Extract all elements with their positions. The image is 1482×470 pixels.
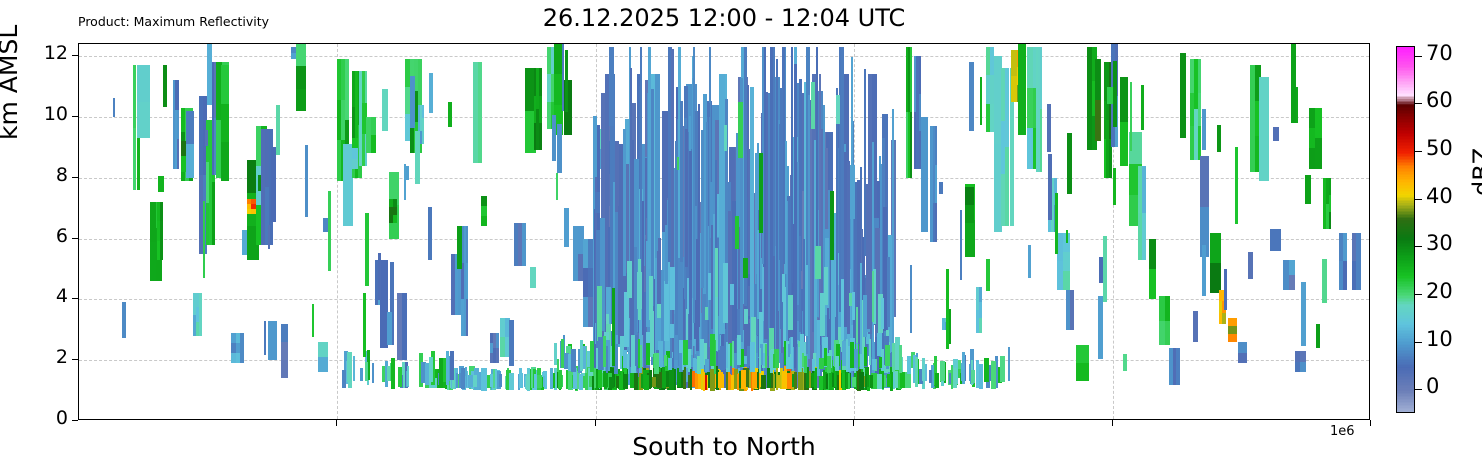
y-axis-tick-label: 6 (20, 225, 68, 247)
reflectivity-cell (604, 377, 607, 390)
reflectivity-cell (363, 293, 366, 358)
reflectivity-cell (296, 66, 306, 88)
reflectivity-cell (466, 263, 468, 299)
y-axis-tick-label: 12 (20, 42, 68, 64)
reflectivity-cell (922, 358, 925, 380)
y-axis-tick (72, 116, 78, 117)
reflectivity-cell (1095, 100, 1101, 141)
reflectivity-cell (1224, 269, 1228, 310)
x-axis-label: South to North (78, 432, 1370, 461)
reflectivity-cell (422, 105, 424, 118)
reflectivity-cell (598, 369, 602, 388)
reflectivity-cell (1113, 61, 1117, 127)
reflectivity-cell (422, 118, 424, 131)
reflectivity-cell (744, 309, 748, 323)
reflectivity-cell (1063, 252, 1069, 271)
reflectivity-cell (986, 259, 991, 291)
reflectivity-cell (318, 342, 328, 357)
reflectivity-cell (748, 149, 750, 274)
reflectivity-cell (1048, 154, 1052, 219)
reflectivity-cell (872, 359, 876, 370)
reflectivity-cell (352, 159, 358, 169)
reflectivity-cell (137, 65, 149, 101)
reflectivity-cell (841, 279, 845, 340)
reflectivity-cell (971, 370, 975, 382)
y-axis-tick (72, 238, 78, 239)
reflectivity-cell (705, 359, 710, 372)
reflectivity-cell (296, 44, 306, 66)
reflectivity-cell (743, 258, 748, 278)
reflectivity-cell (710, 334, 715, 365)
reflectivity-cell (466, 226, 468, 262)
reflectivity-cell (835, 356, 839, 370)
reflectivity-cell (637, 272, 642, 309)
reflectivity-cell (347, 352, 352, 381)
reflectivity-cell (425, 363, 429, 386)
colorbar-tick-label: 70 (1426, 41, 1453, 65)
reflectivity-cell (976, 362, 978, 388)
reflectivity-cell (771, 372, 773, 388)
reflectivity-cell (965, 205, 974, 223)
reflectivity-cell (910, 47, 912, 112)
reflectivity-cell (705, 307, 707, 320)
reflectivity-cell (850, 165, 854, 218)
reflectivity-cell (799, 236, 801, 331)
reflectivity-cell (429, 73, 432, 113)
reflectivity-cell (865, 374, 867, 388)
reflectivity-cell (759, 153, 763, 232)
reflectivity-cell (939, 182, 943, 194)
reflectivity-cell (819, 74, 821, 320)
reflectivity-cell (812, 359, 815, 372)
reflectivity-cell (186, 111, 193, 144)
reflectivity-cell (450, 351, 454, 380)
reflectivity-cell (669, 368, 674, 390)
reflectivity-cell (365, 71, 368, 102)
reflectivity-cell (623, 129, 626, 277)
reflectivity-cell (711, 225, 713, 329)
reflectivity-cell (1270, 229, 1281, 250)
reflectivity-cell (670, 324, 674, 338)
reflectivity-cell (979, 318, 982, 333)
reflectivity-cell (730, 284, 733, 305)
reflectivity-cell (979, 287, 982, 302)
reflectivity-cell (539, 68, 542, 95)
reflectivity-cell (846, 339, 848, 372)
reflectivity-cell (1238, 342, 1248, 353)
reflectivity-cell (207, 43, 212, 105)
reflectivity-cell (1222, 313, 1226, 324)
reflectivity-cell (404, 164, 407, 200)
reflectivity-cell (410, 76, 415, 128)
reflectivity-cell (657, 372, 662, 388)
reflectivity-cell (881, 298, 884, 329)
reflectivity-cell (723, 263, 728, 324)
reflectivity-cell (815, 246, 820, 279)
colorbar-tick-label: 60 (1426, 88, 1453, 112)
reflectivity-cell (418, 59, 422, 106)
reflectivity-cell (658, 341, 663, 367)
reflectivity-cell (905, 372, 910, 389)
reflectivity-cell (221, 65, 229, 104)
reflectivity-cell (1305, 175, 1310, 204)
reflectivity-cell (562, 43, 564, 111)
reflectivity-cell (935, 373, 938, 388)
reflectivity-cell (258, 175, 261, 191)
reflectivity-cell (365, 362, 369, 381)
reflectivity-cell (1141, 85, 1145, 131)
reflectivity-cell (759, 348, 761, 373)
reflectivity-cell (726, 370, 728, 390)
reflectivity-cell (707, 103, 710, 117)
y-axis-tick-label: 8 (20, 164, 68, 186)
reflectivity-cell (352, 148, 358, 158)
reflectivity-cell (940, 361, 945, 381)
reflectivity-cell (665, 225, 668, 284)
reflectivity-cell (580, 340, 582, 371)
reflectivity-cell (496, 348, 499, 363)
reflectivity-cell (864, 69, 866, 257)
reflectivity-cell (791, 337, 794, 369)
reflectivity-cell (268, 225, 270, 249)
reflectivity-cell (1316, 324, 1320, 349)
reflectivity-cell (137, 102, 149, 138)
colorbar-segment (1397, 412, 1414, 413)
reflectivity-cell (571, 349, 576, 372)
reflectivity-cell (836, 88, 838, 350)
reflectivity-cell (345, 59, 349, 120)
reflectivity-cell (1202, 109, 1206, 150)
reflectivity-cell (519, 368, 522, 388)
radar-reflectivity-figure: 26.12.2025 12:00 - 12:04 UTC Product: Ma… (0, 0, 1482, 470)
colorbar-gradient (1396, 46, 1415, 413)
reflectivity-cell (961, 363, 964, 381)
reflectivity-cell (1356, 233, 1361, 291)
reflectivity-cell (478, 62, 483, 162)
reflectivity-cell (481, 216, 487, 226)
reflectivity-cell (823, 370, 825, 389)
reflectivity-cell (1047, 104, 1051, 152)
reflectivity-cell (199, 293, 202, 336)
reflectivity-cell (328, 191, 331, 271)
y-axis-tick (72, 55, 78, 56)
reflectivity-cell (1113, 168, 1115, 206)
reflectivity-cell (353, 356, 355, 381)
reflectivity-cell (794, 64, 798, 322)
reflectivity-cell (312, 304, 314, 336)
reflectivity-cell (603, 336, 606, 367)
reflectivity-cell (556, 173, 558, 199)
reflectivity-cell (481, 206, 487, 216)
reflectivity-cell (683, 340, 688, 365)
reflectivity-cell (811, 82, 815, 129)
y-axis-tick (72, 420, 78, 421)
reflectivity-cell (668, 358, 672, 370)
reflectivity-cell (378, 253, 380, 301)
reflectivity-cell (402, 293, 407, 360)
colorbar (1396, 46, 1415, 413)
reflectivity-cell (770, 47, 773, 335)
reflectivity-cell (791, 47, 793, 283)
y-axis-tick-label: 2 (20, 346, 68, 368)
reflectivity-cell (618, 206, 620, 343)
reflectivity-cell (1315, 138, 1321, 168)
reflectivity-cell (251, 209, 255, 214)
reflectivity-cell (537, 375, 542, 388)
reflectivity-cell (979, 364, 984, 389)
reflectivity-cell (863, 295, 867, 337)
reflectivity-cell (757, 230, 759, 319)
reflectivity-cell (391, 358, 394, 389)
reflectivity-cell (568, 354, 572, 372)
reflectivity-cell (323, 218, 328, 232)
reflectivity-cell (1067, 133, 1072, 193)
reflectivity-cell (827, 356, 831, 373)
reflectivity-cell (522, 223, 526, 266)
reflectivity-cell (693, 47, 695, 323)
reflectivity-cell (879, 357, 882, 368)
reflectivity-cell (186, 144, 193, 177)
reflectivity-cell (382, 366, 384, 382)
reflectivity-cell (466, 299, 468, 335)
reflectivity-cell (726, 342, 728, 368)
colorbar-tick-label: 20 (1426, 279, 1453, 303)
reflectivity-cell (910, 112, 912, 177)
reflectivity-cell (965, 187, 974, 205)
reflectivity-cell (371, 117, 376, 135)
y-axis-tick (72, 177, 78, 178)
reflectivity-cell (393, 215, 397, 223)
reflectivity-cell (765, 344, 767, 368)
reflectivity-cell (991, 361, 995, 389)
colorbar-tick (1415, 342, 1422, 343)
reflectivity-cell (732, 341, 734, 368)
reflectivity-cell (509, 320, 514, 366)
reflectivity-cell (700, 339, 703, 369)
reflectivity-cell (1008, 347, 1010, 380)
reflectivity-cell (240, 333, 244, 363)
reflectivity-cell (752, 372, 756, 388)
reflectivity-cell (1076, 363, 1089, 381)
reflectivity-cell (564, 208, 569, 247)
reflectivity-cell (852, 377, 855, 388)
reflectivity-cell (870, 375, 873, 388)
x-axis-offset-text: 1e6 (1330, 424, 1355, 439)
reflectivity-cell (499, 374, 502, 388)
reflectivity-cell (1289, 260, 1295, 275)
reflectivity-cell (935, 126, 937, 165)
reflectivity-cell (1176, 348, 1179, 384)
reflectivity-cell (652, 377, 655, 388)
reflectivity-data-layer (79, 44, 1369, 419)
reflectivity-cell (448, 102, 453, 126)
y-axis-tick (72, 359, 78, 360)
y-axis-tick-label: 4 (20, 285, 68, 307)
reflectivity-cell (718, 372, 723, 388)
reflectivity-cell (1315, 108, 1321, 138)
reflectivity-cell (776, 59, 778, 339)
reflectivity-cell (674, 369, 677, 389)
reflectivity-cell (1063, 271, 1069, 290)
reflectivity-cell (830, 191, 833, 261)
reflectivity-cell (848, 373, 850, 389)
reflectivity-cell (935, 203, 937, 242)
reflectivity-cell (900, 372, 905, 387)
reflectivity-cell (761, 375, 766, 389)
reflectivity-cell (1228, 334, 1237, 342)
reflectivity-cell (177, 139, 179, 168)
reflectivity-cell (777, 375, 781, 388)
reflectivity-cell (365, 213, 369, 286)
reflectivity-cell (1329, 212, 1332, 229)
reflectivity-cell (579, 374, 584, 390)
reflectivity-cell (554, 343, 556, 366)
reflectivity-cell (664, 281, 669, 341)
reflectivity-cell (221, 142, 229, 181)
reflectivity-cell (634, 373, 638, 390)
reflectivity-cell (1259, 77, 1269, 180)
colorbar-tick-label: 10 (1426, 327, 1453, 351)
reflectivity-cell (393, 207, 397, 215)
reflectivity-cell (1165, 296, 1170, 320)
reflectivity-cell (565, 50, 569, 112)
reflectivity-cell (372, 363, 375, 382)
reflectivity-cell (1055, 193, 1058, 254)
reflectivity-cell (587, 351, 589, 367)
colorbar-tick-label: 50 (1426, 136, 1453, 160)
reflectivity-cell (804, 356, 808, 372)
reflectivity-cell (281, 324, 289, 342)
reflectivity-cell (854, 349, 858, 368)
plot-area (78, 43, 1370, 420)
reflectivity-cell (630, 68, 632, 272)
reflectivity-cell (1235, 147, 1238, 224)
reflectivity-cell (809, 371, 811, 388)
reflectivity-cell (177, 110, 179, 139)
reflectivity-cell (741, 370, 746, 388)
reflectivity-cell (984, 358, 989, 382)
reflectivity-cell (493, 369, 495, 387)
reflectivity-cell (177, 80, 179, 109)
reflectivity-cell (281, 360, 289, 378)
reflectivity-cell (1198, 126, 1202, 159)
reflectivity-cell (1066, 230, 1069, 243)
reflectivity-cell (907, 356, 911, 374)
product-label: Product: Maximum Reflectivity (78, 14, 269, 29)
reflectivity-cell (1165, 321, 1170, 345)
reflectivity-cell (738, 102, 743, 158)
reflectivity-cell (640, 47, 642, 283)
reflectivity-cell (609, 47, 614, 126)
reflectivity-cell (1149, 239, 1156, 269)
reflectivity-cell (530, 267, 535, 288)
reflectivity-cell (1040, 109, 1042, 171)
reflectivity-cell (808, 95, 810, 359)
reflectivity-cell (1142, 213, 1146, 260)
reflectivity-cell (387, 366, 390, 381)
reflectivity-cell (1210, 263, 1221, 293)
reflectivity-cell (780, 353, 784, 367)
reflectivity-cell (305, 145, 308, 217)
reflectivity-cell (1248, 252, 1253, 279)
reflectivity-cell (122, 302, 126, 338)
reflectivity-cell (1028, 245, 1032, 279)
reflectivity-cell (1018, 44, 1026, 135)
reflectivity-cell (407, 366, 410, 386)
reflectivity-cell (737, 335, 741, 365)
reflectivity-cell (1300, 351, 1306, 362)
x-axis-tick (1112, 420, 1113, 426)
reflectivity-cell (1217, 125, 1221, 152)
reflectivity-cell (1130, 82, 1132, 151)
reflectivity-cell (1149, 269, 1156, 299)
reflectivity-cell (627, 261, 632, 298)
reflectivity-cell (534, 374, 537, 390)
reflectivity-cell (1193, 311, 1198, 342)
reflectivity-cell (1180, 53, 1187, 138)
reflectivity-cell (1210, 233, 1221, 263)
reflectivity-cell (919, 56, 921, 93)
reflectivity-cell (646, 343, 650, 365)
colorbar-tick (1415, 56, 1422, 57)
colorbar-tick (1415, 389, 1422, 390)
reflectivity-cell (960, 210, 962, 279)
reflectivity-cell (264, 321, 266, 355)
x-axis-tick (853, 420, 854, 426)
reflectivity-cell (393, 199, 397, 207)
x-axis-tick (595, 420, 596, 426)
reflectivity-cell (1202, 245, 1205, 295)
reflectivity-cell (899, 345, 901, 373)
reflectivity-cell (650, 311, 654, 357)
reflectivity-cell (703, 372, 705, 391)
reflectivity-cell (696, 239, 699, 351)
reflectivity-cell (1273, 127, 1279, 141)
reflectivity-cell (473, 375, 477, 388)
x-axis-tick (1370, 420, 1371, 426)
reflectivity-cell (949, 309, 951, 344)
reflectivity-cell (935, 165, 937, 204)
reflectivity-cell (915, 357, 917, 387)
reflectivity-cell (685, 129, 688, 267)
reflectivity-cell (644, 375, 649, 390)
y-axis-tick (72, 298, 78, 299)
reflectivity-cell (750, 342, 755, 372)
reflectivity-cell (113, 98, 115, 117)
reflectivity-cell (509, 373, 514, 390)
colorbar-tick-label: 40 (1426, 184, 1453, 208)
reflectivity-cell (624, 292, 629, 347)
reflectivity-cell (296, 89, 306, 111)
reflectivity-cell (1291, 43, 1296, 123)
reflectivity-cell (1120, 122, 1128, 166)
reflectivity-cell (850, 342, 854, 368)
reflectivity-cell (842, 341, 846, 366)
reflectivity-cell (683, 367, 685, 388)
reflectivity-cell (398, 367, 402, 388)
reflectivity-cell (481, 196, 487, 206)
reflectivity-cell (859, 372, 864, 390)
page-title: 26.12.2025 12:00 - 12:04 UTC (78, 4, 1370, 32)
reflectivity-cell (1198, 59, 1202, 92)
reflectivity-cell (1343, 261, 1347, 290)
reflectivity-cell (1123, 354, 1127, 371)
reflectivity-cell (1228, 326, 1237, 334)
colorbar-tick (1415, 246, 1422, 247)
reflectivity-cell (481, 368, 486, 390)
reflectivity-cell (251, 199, 255, 204)
reflectivity-cell (612, 288, 616, 366)
